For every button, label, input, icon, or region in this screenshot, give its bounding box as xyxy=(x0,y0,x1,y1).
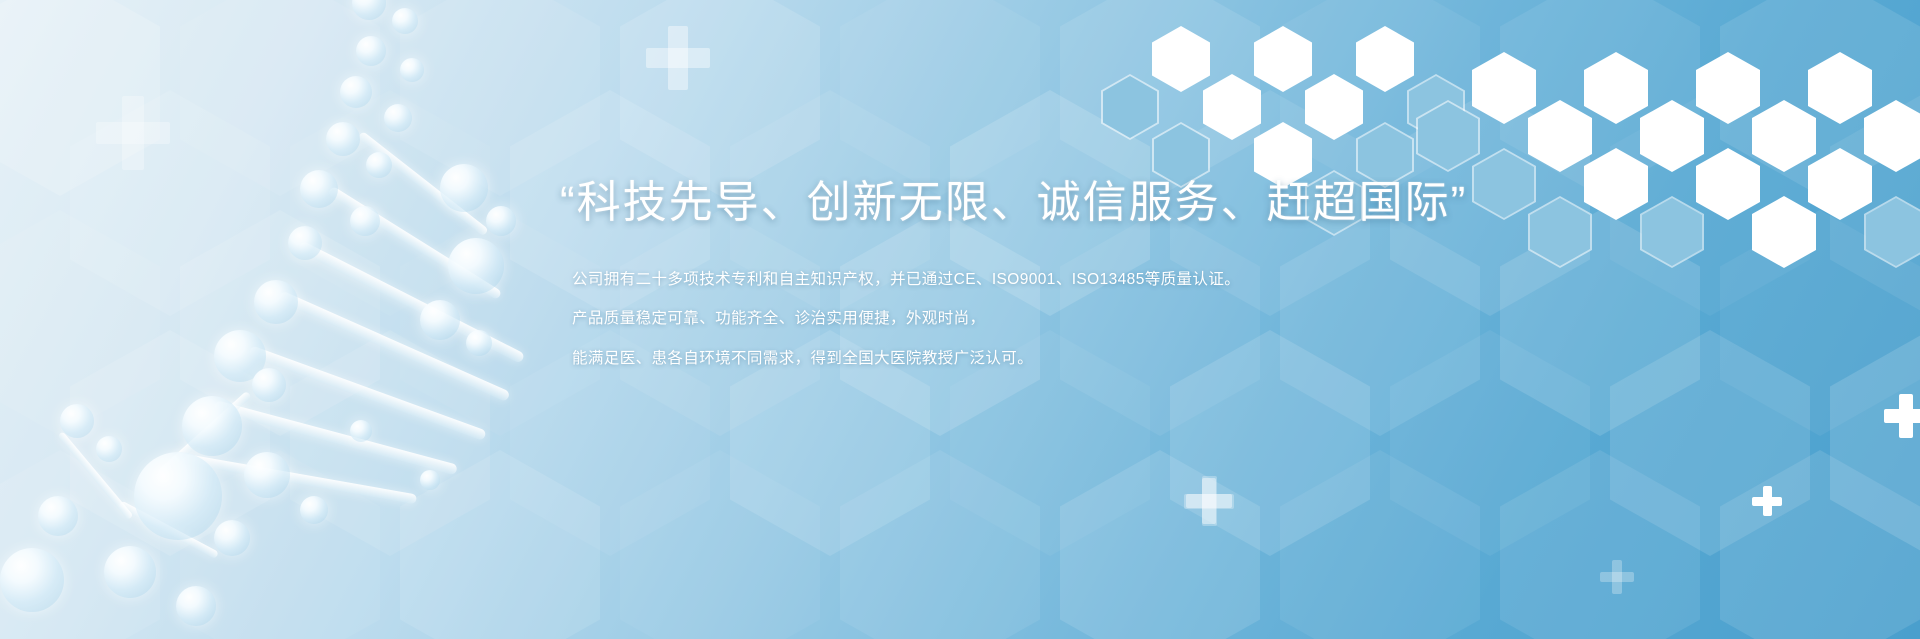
molecule-node xyxy=(340,76,372,108)
molecule-node xyxy=(350,206,380,236)
molecule-node xyxy=(356,36,386,66)
molecule-node xyxy=(366,152,392,178)
molecule-node xyxy=(60,404,94,438)
molecule-node xyxy=(448,238,504,294)
medical-cross-icon xyxy=(1186,478,1232,524)
molecule-node xyxy=(134,452,222,540)
banner-paragraph-line: 公司拥有二十多项技术专利和自主知识产权，并已通过CE、ISO9001、ISO13… xyxy=(572,268,1560,291)
banner-headline: “科技先导、创新无限、诚信服务、赶超国际” xyxy=(560,175,1560,230)
molecule-node xyxy=(254,280,298,324)
molecule-node xyxy=(104,546,156,598)
medical-cross-icon xyxy=(1600,560,1634,594)
molecule-node xyxy=(384,104,412,132)
medical-cross-icon xyxy=(1884,394,1920,438)
molecule-node xyxy=(350,420,372,442)
molecule-node xyxy=(300,496,328,524)
banner-paragraph-line: 产品质量稳定可靠、功能齐全、诊治实用便捷，外观时尚， xyxy=(572,307,1560,330)
molecule-node xyxy=(420,300,460,340)
molecule-node xyxy=(392,8,418,34)
molecule-node xyxy=(440,164,488,212)
molecule-node xyxy=(214,520,250,556)
molecule-node xyxy=(38,496,78,536)
banner-copy: “科技先导、创新无限、诚信服务、赶超国际” 公司拥有二十多项技术专利和自主知识产… xyxy=(560,175,1560,370)
molecule-node xyxy=(420,470,440,490)
molecule-node xyxy=(252,368,286,402)
molecule-node xyxy=(0,548,64,612)
hero-banner: “科技先导、创新无限、诚信服务、赶超国际” 公司拥有二十多项技术专利和自主知识产… xyxy=(0,0,1920,639)
medical-cross-icon xyxy=(646,26,710,90)
banner-paragraph: 公司拥有二十多项技术专利和自主知识产权，并已通过CE、ISO9001、ISO13… xyxy=(572,268,1560,370)
molecule-node xyxy=(288,226,322,260)
molecule-node xyxy=(326,122,360,156)
molecule-node xyxy=(486,206,516,236)
medical-cross-icon xyxy=(1752,486,1782,516)
molecule-node xyxy=(182,396,242,456)
dna-molecule-illustration xyxy=(0,0,640,639)
molecule-node xyxy=(176,586,216,626)
molecule-node xyxy=(244,452,290,498)
molecule-node xyxy=(300,170,338,208)
molecule-node xyxy=(352,0,386,20)
molecule-node xyxy=(96,436,122,462)
banner-paragraph-line: 能满足医、患各自环境不同需求，得到全国大医院教授广泛认可。 xyxy=(572,347,1560,370)
molecule-node xyxy=(466,330,492,356)
molecule-node xyxy=(400,58,424,82)
